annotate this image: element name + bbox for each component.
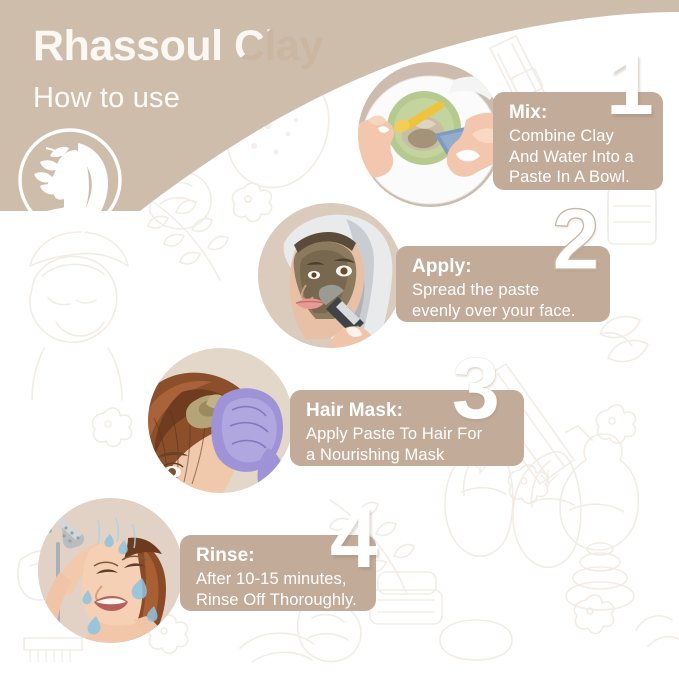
woman-profile-with-leaves-logo [16,126,124,234]
photo-woman-applying-clay-mask-with-brush [258,203,403,348]
step-1-number: 1 [606,42,652,128]
step-4-line-2: Rinse Off Thoroughly. [196,590,362,611]
page-title: Rhassoul Clay Rhassoul Clay [33,18,433,74]
photo-woman-rinsing-face-in-shower [38,498,183,643]
photo-hands-mixing-clay-in-green-bowl [358,62,503,207]
page-subtitle: How to use [33,78,180,118]
photo-gloved-hand-applying-paste-to-hair [148,348,293,493]
step-3-line-2: a Nourishing Mask [306,445,510,466]
step-4-number: 4 [330,495,376,581]
step-1-line-2: And Water Into a [509,147,649,168]
step-2-line-2: evenly over your face. [412,301,596,322]
infographic-canvas: Rhassoul Clay Rhassoul Clay How to use [0,0,679,679]
step-3-number: 3 [452,346,498,432]
step-2-number: 2 [552,197,598,283]
step-1-line-3: Paste In A Bowl. [509,167,649,188]
